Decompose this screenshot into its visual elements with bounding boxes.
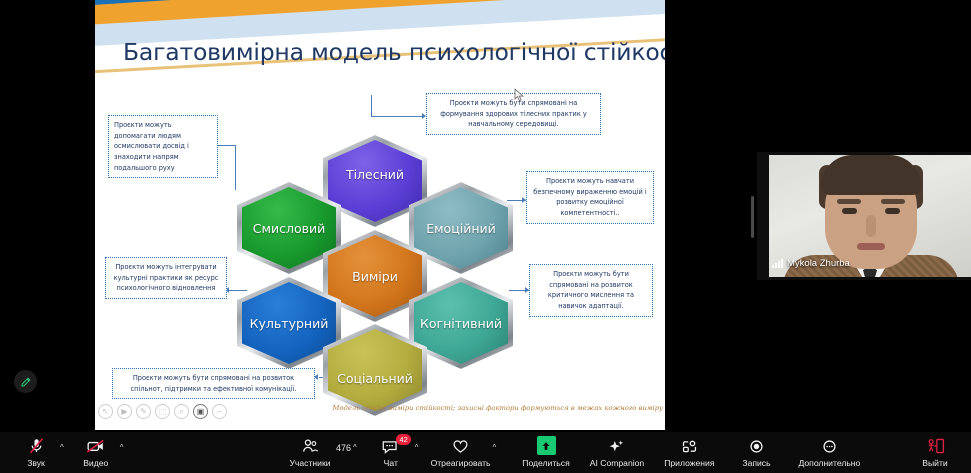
callout-smyslovyi: Проєкти можуть допомагати людям осмислюв… [108,115,218,178]
hexagon-smyslovyi-label: Смисловий [253,221,325,236]
hexagon-kulturnyi-label: Культурний [250,316,329,331]
hexagon-tilesnyi-label: Тілесний [346,167,404,182]
hexagon-vymiry-label: Виміри [352,269,398,284]
toolbar-apps-label: Приложения [664,458,714,468]
slide-title: Багатовимірна модель психологічної стійк… [123,38,663,66]
toolbar-video-label: Видео [83,458,108,468]
participant-name: Mykola Zhurba [787,258,850,269]
connector-tilesnyi-v [371,95,372,117]
toolbar-share-button[interactable]: Поделиться [522,432,569,473]
annotation-frame-icon[interactable]: ⬚ [155,404,170,419]
toolbar-apps-button[interactable]: Приложения [664,432,714,473]
heart-icon [451,437,470,455]
record-icon [747,437,766,455]
hexagon-emotsiinyi-label: Емоційний [426,221,496,236]
camera-muted-icon [86,437,105,455]
participant-video-tile[interactable]: Mykola Zhurba [757,152,971,280]
toolbar-leave-button[interactable]: Выйти [913,432,957,473]
annotate-button[interactable] [14,370,37,393]
ellipsis-icon [820,437,839,455]
callout-kulturnyi: Проєкти можуть інтегрувати культурні пра… [105,257,227,299]
participants-count: 476 [336,443,351,463]
share-screen-icon [537,437,556,455]
toolbar-chat-button[interactable]: 42 Чат [369,432,413,473]
annotation-video-icon[interactable]: ▣ [193,404,208,419]
connector-tilesnyi-h [371,116,423,117]
callout-sotsialnyi: Проєкти можуть бути спрямовані на розвит… [112,368,315,399]
reactions-chevron-up-icon[interactable]: ^ [493,443,497,462]
callout-kohnityvnyi: Проєкти можуть бути спрямовані на розвит… [529,264,653,317]
toolbar-reactions-button[interactable]: Отреагировать [431,432,491,473]
toolbar-more-button[interactable]: Дополнительно [798,432,860,473]
participants-icon [301,437,320,455]
chat-unread-badge: 42 [396,434,411,445]
pencil-icon [20,376,32,388]
toolbar-more-label: Дополнительно [798,458,860,468]
microphone-muted-icon [28,437,45,455]
toolbar-audio-label: Звук [27,458,45,468]
toolbar-share-label: Поделиться [522,458,569,468]
annotation-select-icon[interactable]: ↖ [98,404,113,419]
participants-chevron-up-icon[interactable]: ^ [353,443,357,462]
meeting-toolbar: Звук ^ Видео ^ [0,432,971,473]
annotation-pen-icon[interactable]: ✎ [136,404,151,419]
screen-share-stage: Багатовимірна модель психологічної стійк… [0,0,752,432]
toolbar-chat-label: Чат [384,458,398,468]
toolbar-audio-button[interactable]: Звук [14,432,58,473]
slide-annotation-toolbar[interactable]: ↖ ▶ ✎ ⬚ ⌕ ▣ – [98,404,227,419]
presentation-slide: Багатовимірна модель психологічної стійк… [95,0,665,430]
zoom-meeting-window: Багатовимірна модель психологічної стійк… [0,0,971,473]
callout-emotsiinyi: Проєкти можуть навчати безпечному вираже… [526,171,654,224]
toolbar-record-button[interactable]: Запись [734,432,778,473]
apps-icon [680,437,699,455]
sparkle-icon [607,437,626,455]
toolbar-leave-label: Выйти [922,458,947,468]
toolbar-ai-companion-label: AI Companion [590,458,644,468]
participant-name-badge: Mykola Zhurba [769,256,855,271]
audio-chevron-up-icon[interactable]: ^ [60,443,64,462]
toolbar-participants-label: Участники [289,458,330,468]
video-chevron-up-icon[interactable]: ^ [120,443,124,462]
annotation-zoom-icon[interactable]: ⌕ [174,404,189,419]
chat-chevron-up-icon[interactable]: ^ [415,443,419,462]
hexagon-sotsialnyi-label: Соціальний [337,371,413,386]
chat-icon: 42 [381,437,400,455]
hexagon-kohnityvnyi-label: Когнітивний [420,316,502,331]
toolbar-ai-companion-button[interactable]: AI Companion [590,432,644,473]
toolbar-video-button[interactable]: Видео [74,432,118,473]
toolbar-record-label: Запись [742,458,770,468]
annotation-minus-icon[interactable]: – [212,404,227,419]
toolbar-participants-button[interactable]: Участники [288,432,332,473]
hexagon-diagram: Тілесний Смисловий Емоційний Виміри [225,135,525,370]
mouse-cursor [514,88,525,102]
leave-icon [925,437,946,455]
annotation-pointer-icon[interactable]: ▶ [117,404,132,419]
signal-bars-icon [772,259,783,268]
panel-divider-grip[interactable] [751,196,754,238]
toolbar-reactions-label: Отреагировать [431,458,491,468]
slide-caption: Модель описує виміри стійкості; захисні … [323,404,663,412]
